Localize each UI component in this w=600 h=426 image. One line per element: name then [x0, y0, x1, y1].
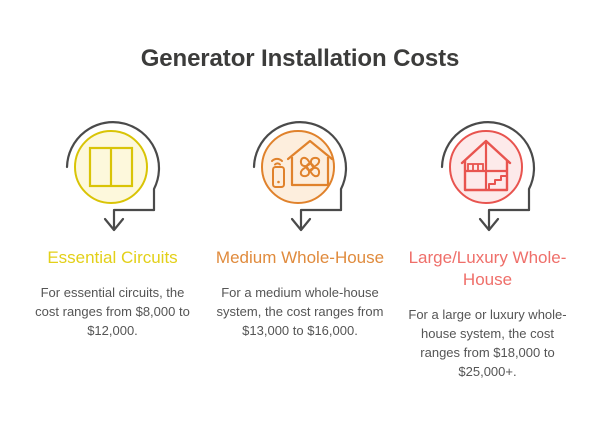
icon-block-large-luxury-whole-house — [428, 105, 548, 235]
electrical-panel-icon — [53, 105, 173, 235]
smart-home-generator-icon — [240, 105, 360, 235]
column-body-medium-whole-house: For a medium whole-house system, the cos… — [215, 283, 385, 340]
column-medium-whole-house: Medium Whole-House For a medium whole-ho… — [218, 105, 383, 340]
column-essential-circuits: Essential Circuits For essential circuit… — [30, 105, 195, 340]
column-heading-medium-whole-house: Medium Whole-House — [215, 247, 385, 269]
infographic-canvas: Generator Installation Costs Essential C… — [0, 0, 600, 426]
large-house-icon — [428, 105, 548, 235]
page-title: Generator Installation Costs — [0, 45, 600, 73]
column-heading-large-luxury-whole-house: Large/Luxury Whole-House — [403, 247, 573, 291]
icon-block-medium-whole-house — [240, 105, 360, 235]
icon-block-essential-circuits — [53, 105, 173, 235]
column-body-large-luxury-whole-house: For a large or luxury whole-house system… — [403, 305, 573, 381]
column-large-luxury-whole-house: Large/Luxury Whole-House For a large or … — [405, 105, 570, 381]
column-body-essential-circuits: For essential circuits, the cost ranges … — [33, 283, 193, 340]
columns-container: Essential Circuits For essential circuit… — [30, 105, 570, 381]
column-heading-essential-circuits: Essential Circuits — [33, 247, 193, 269]
